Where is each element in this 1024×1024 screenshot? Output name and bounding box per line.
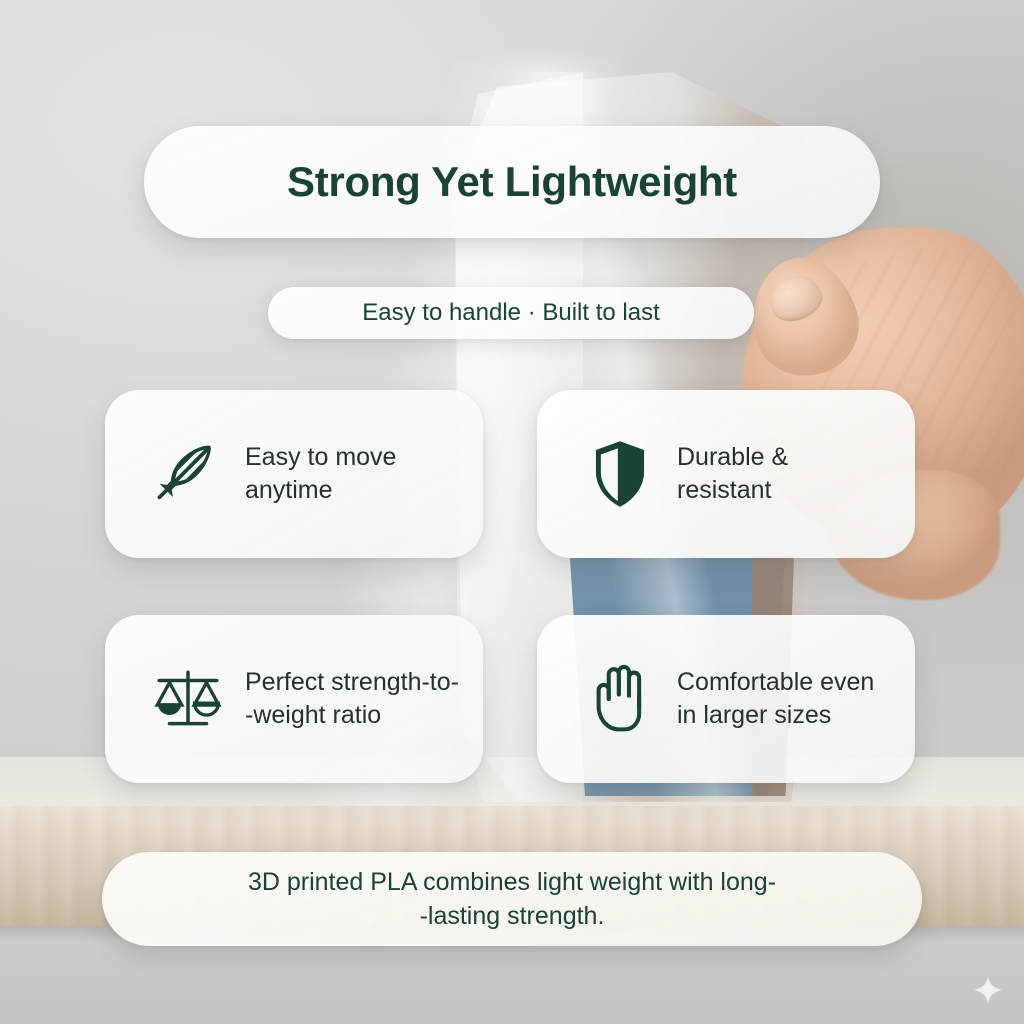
feature-label-line2: -weight ratio: [245, 699, 459, 733]
feature-card-label: Perfect strength-to- -weight ratio: [245, 666, 459, 733]
subtitle-pill: Easy to handle · Built to last: [268, 287, 754, 339]
page-subtitle: Easy to handle · Built to last: [362, 299, 660, 327]
page-title: Strong Yet Lightweight: [287, 158, 737, 206]
feature-card-comfortable[interactable]: Comfortable even in larger sizes: [537, 615, 915, 783]
feature-label-line1: Durable &: [677, 443, 788, 471]
feature-card-label: Easy to move anytime: [245, 441, 396, 508]
feature-label-line2: in larger sizes: [677, 699, 874, 733]
feature-card-strength-to-weight[interactable]: Perfect strength-to- -weight ratio: [105, 615, 483, 783]
footer-line-2: -lasting strength.: [420, 899, 605, 934]
feature-card-easy-to-move[interactable]: Easy to move anytime: [105, 390, 483, 558]
title-pill: Strong Yet Lightweight: [144, 126, 880, 238]
feather-icon: [151, 437, 225, 511]
feature-label-line2: anytime: [245, 474, 396, 508]
feature-card-label: Comfortable even in larger sizes: [677, 666, 874, 733]
footer-line-1: 3D printed PLA combines light weight wit…: [248, 865, 776, 900]
footer-pill: 3D printed PLA combines light weight wit…: [102, 852, 922, 946]
feature-label-line1: Comfortable even: [677, 668, 874, 696]
open-hand-icon: [583, 662, 657, 736]
feature-card-durable[interactable]: Durable & resistant: [537, 390, 915, 558]
feature-label-line1: Easy to move: [245, 443, 396, 471]
infographic-canvas: Strong Yet Lightweight Easy to handle · …: [0, 0, 1024, 1024]
feature-label-line2: resistant: [677, 474, 788, 508]
feature-card-label: Durable & resistant: [677, 441, 788, 508]
feature-label-line1: Perfect strength-to-: [245, 668, 459, 696]
sparkle-icon: [974, 976, 1002, 1004]
shield-icon: [583, 437, 657, 511]
balance-scale-icon: [151, 662, 225, 736]
